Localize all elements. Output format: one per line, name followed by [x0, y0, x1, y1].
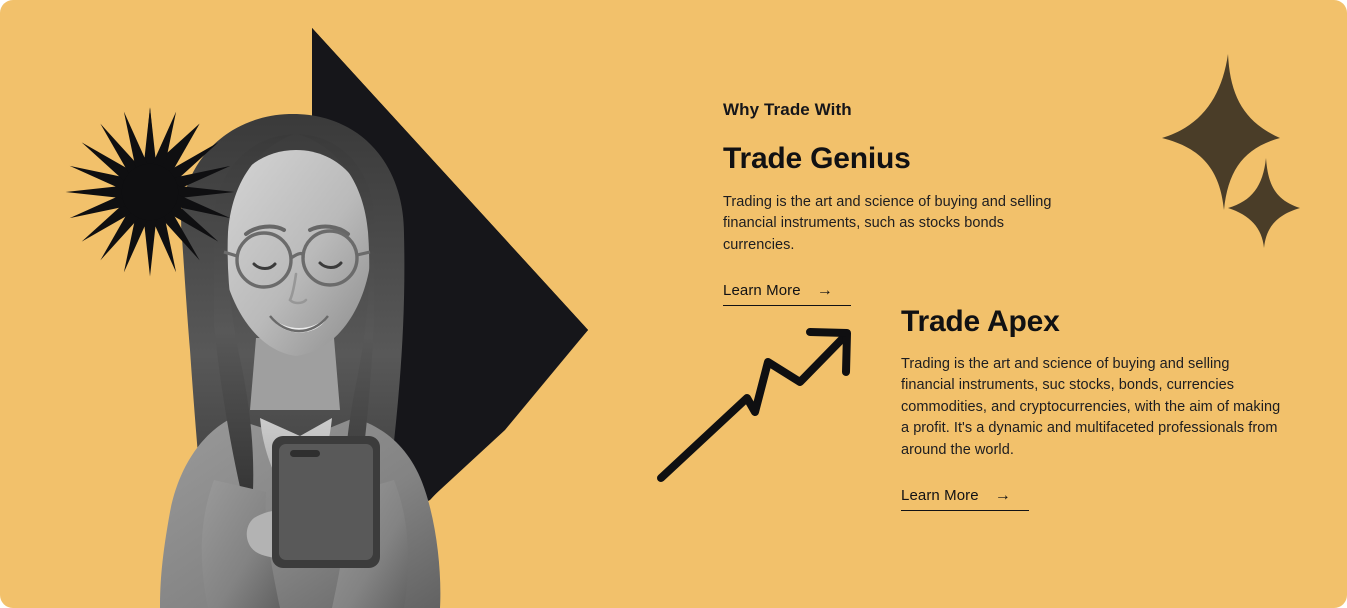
learn-more-link-genius[interactable]: Learn More → — [723, 282, 851, 306]
learn-more-label: Learn More — [901, 487, 979, 504]
card-trade-genius: Why Trade With Trade Genius Trading is t… — [723, 100, 1063, 306]
arrow-right-icon: → — [817, 283, 851, 299]
growth-arrow-icon — [655, 320, 865, 485]
hero-banner: Why Trade With Trade Genius Trading is t… — [0, 0, 1347, 608]
hero-photo — [104, 88, 524, 608]
learn-more-label: Learn More — [723, 282, 801, 299]
card-title-apex: Trade Apex — [901, 305, 1283, 340]
card-trade-apex: Trade Apex Trading is the art and scienc… — [901, 305, 1283, 511]
learn-more-link-apex[interactable]: Learn More → — [901, 487, 1029, 511]
page-title: Trade Genius — [723, 142, 1063, 177]
card-body-text: Trading is the art and science of buying… — [723, 192, 1063, 257]
card-body-text: Trading is the art and science of buying… — [901, 354, 1283, 462]
sparkle-icon — [1162, 54, 1280, 210]
arrow-right-icon: → — [995, 488, 1029, 504]
sparkle-group — [1140, 48, 1322, 252]
sparkle-icon — [1228, 158, 1300, 248]
eyebrow-text: Why Trade With — [723, 100, 1063, 120]
